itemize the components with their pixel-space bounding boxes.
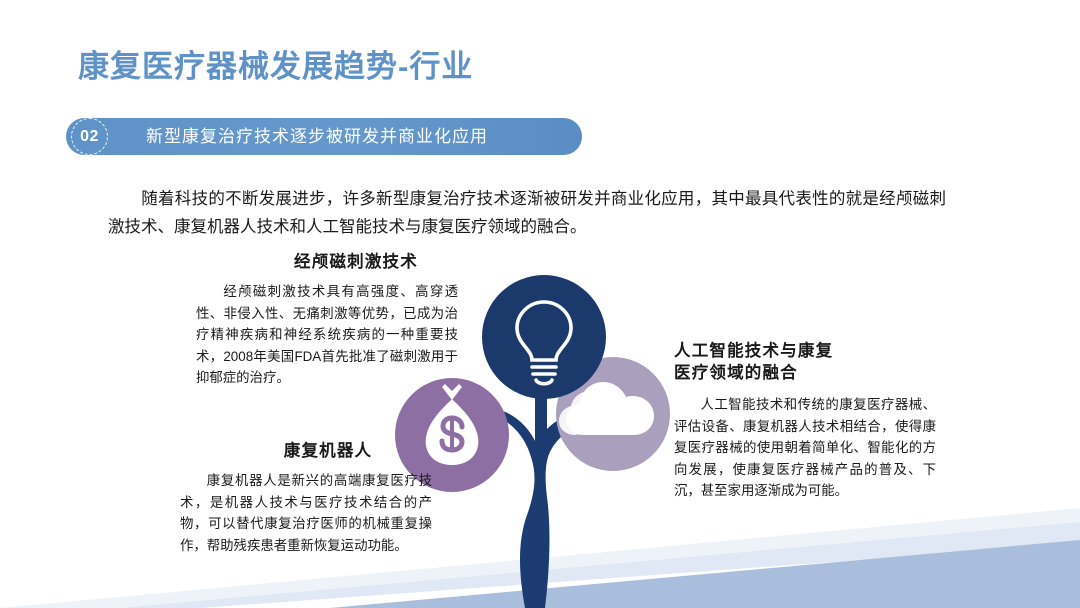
node-lightbulb — [482, 275, 606, 399]
block-robot: 康复机器人 康复机器人是新兴的高端康复医疗技术，是机器人技术与医疗技术结合的产物… — [180, 440, 432, 556]
block-ai: 人工智能技术与康复 医疗领域的融合 人工智能技术和传统的康复医疗器械、评估设备、… — [674, 340, 936, 502]
section-number-label: 02 — [80, 128, 99, 146]
slide-canvas: 康复医疗器械发展趋势-行业 02 新型康复治疗技术逐步被研发并商业化应用 随着科… — [0, 0, 1080, 608]
block-ai-heading-line2: 医疗领域的融合 — [674, 362, 936, 384]
intro-text: 随着科技的不断发展进步，许多新型康复治疗技术逐渐被研发并商业化应用，其中最具代表… — [108, 190, 946, 236]
block-robot-heading: 康复机器人 — [180, 440, 432, 462]
section-bar-label: 新型康复治疗技术逐步被研发并商业化应用 — [146, 118, 488, 155]
section-bar[interactable]: 02 新型康复治疗技术逐步被研发并商业化应用 — [66, 118, 582, 155]
lightbulb-circle — [482, 275, 606, 399]
block-ai-text: 人工智能技术和传统的康复医疗器械、评估设备、康复机器人技术相结合，使得康复医疗器… — [674, 397, 936, 498]
page-title: 康复医疗器械发展趋势-行业 — [78, 41, 473, 86]
block-ai-body: 人工智能技术和传统的康复医疗器械、评估设备、康复机器人技术相结合，使得康复医疗器… — [674, 394, 936, 502]
block-tms-text: 经颅磁刺激技术具有高强度、高穿透性、非侵入性、无痛刺激等优势，已成为治疗精神疾病… — [196, 284, 458, 385]
block-tms: 经颅磁刺激技术 经颅磁刺激技术具有高强度、高穿透性、非侵入性、无痛刺激等优势，已… — [196, 251, 458, 389]
intro-paragraph: 随着科技的不断发展进步，许多新型康复治疗技术逐渐被研发并商业化应用，其中最具代表… — [108, 185, 946, 241]
section-number-badge: 02 — [71, 118, 108, 155]
block-ai-heading: 人工智能技术与康复 医疗领域的融合 — [674, 340, 936, 384]
block-robot-text: 康复机器人是新兴的高端康复医疗技术，是机器人技术与医疗技术结合的产物，可以替代康… — [180, 473, 432, 553]
block-tms-heading: 经颅磁刺激技术 — [196, 251, 458, 273]
block-ai-heading-line1: 人工智能技术与康复 — [674, 340, 936, 362]
block-robot-body: 康复机器人是新兴的高端康复医疗技术，是机器人技术与医疗技术结合的产物，可以替代康… — [180, 470, 432, 556]
block-tms-body: 经颅磁刺激技术具有高强度、高穿透性、非侵入性、无痛刺激等优势，已成为治疗精神疾病… — [196, 281, 458, 389]
